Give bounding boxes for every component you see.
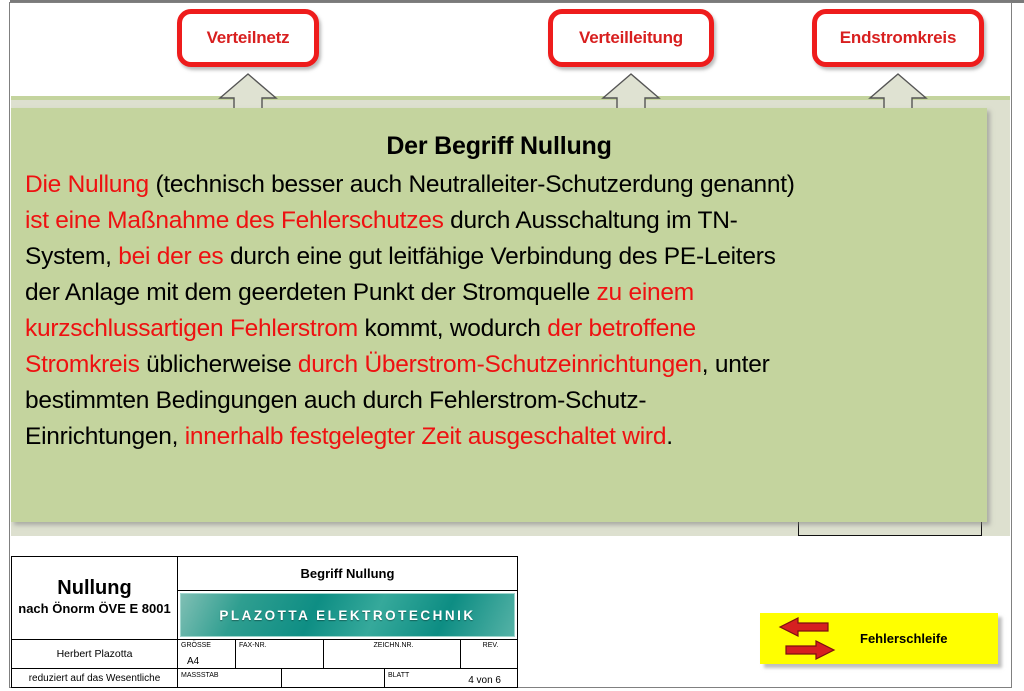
diagram-band-top-edge — [11, 96, 1010, 100]
definition-text: der Anlage mit dem geerdeten Punkt der S… — [25, 279, 597, 306]
subject-name: Nullung — [57, 576, 131, 600]
definition-text: , unter — [702, 351, 770, 378]
slide-canvas: Verteilnetz Verteilleitung Endstromkreis… — [0, 0, 1024, 691]
field-blatt: BLATT 4 von 6 — [385, 669, 517, 687]
definition-text: durch eine gut leitfähige Verbindung des… — [223, 243, 775, 270]
definition-text: System, — [25, 243, 118, 270]
definition-text: bestimmten Bedingungen auch durch Fehler… — [25, 387, 646, 414]
legend-label: Fehlerschleife — [860, 631, 947, 646]
field-groesse-value: A4 — [187, 656, 199, 667]
definition-highlight: durch Überstrom-Schutzeinrichtungen — [298, 351, 702, 378]
drawing-title: Begriff Nullung — [178, 557, 517, 591]
field-zeichnr-label: ZEICHN.NR. — [327, 642, 460, 649]
callout-endstromkreis-label: Endstromkreis — [840, 28, 956, 48]
definition-line: Die Nullung (technisch besser auch Neutr… — [25, 167, 973, 203]
definition-line: Stromkreis üblicherweise durch Überstrom… — [25, 347, 973, 383]
title-block-lower-row: reduziert auf das Wesentliche MASSSTAB B… — [12, 669, 517, 687]
definition-line: bestimmten Bedingungen auch durch Fehler… — [25, 383, 973, 419]
title-block-right-cell: Begriff Nullung PLAZOTTA ELEKTROTECHNIK — [178, 557, 517, 639]
definition-text: (technisch besser auch Neutralleiter-Sch… — [149, 171, 795, 198]
field-fax: FAX-NR. — [236, 640, 324, 668]
callout-verteilleitung-label: Verteilleitung — [579, 28, 683, 48]
title-block-subject-cell: Nullung nach Önorm ÖVE E 8001 — [12, 557, 178, 639]
definition-highlight: Stromkreis — [25, 351, 140, 378]
subject-standard: nach Önorm ÖVE E 8001 — [18, 600, 170, 618]
field-groesse-label: GRÖSSE — [181, 642, 211, 649]
definition-text: üblicherweise — [140, 351, 298, 378]
field-groesse: GRÖSSE A4 — [178, 640, 236, 668]
definition-highlight: der betroffene — [547, 315, 696, 342]
field-blatt-value: 4 von 6 — [468, 675, 501, 686]
field-rev: REV. — [461, 640, 517, 668]
definition-highlight: zu einem — [597, 279, 694, 306]
company-logo: PLAZOTTA ELEKTROTECHNIK — [180, 593, 515, 637]
definition-text: durch Ausschaltung im TN- — [444, 207, 738, 234]
definition-highlight: Die Nullung — [25, 171, 149, 198]
field-fax-label: FAX-NR. — [239, 642, 267, 649]
field-blank — [282, 669, 385, 687]
definition-body: Die Nullung (technisch besser auch Neutr… — [25, 167, 973, 455]
callout-endstromkreis[interactable]: Endstromkreis — [812, 9, 984, 67]
drawing-note: reduziert auf das Wesentliche — [12, 669, 178, 687]
definition-line: Einrichtungen, innerhalb festgelegter Ze… — [25, 419, 973, 455]
legend-fehlerschleife[interactable]: Fehlerschleife — [760, 613, 998, 664]
company-logo-text: PLAZOTTA ELEKTROTECHNIK — [219, 608, 475, 623]
field-zeichnr: ZEICHN.NR. — [324, 640, 461, 668]
definition-line: kurzschlussartigen Fehlerstrom kommt, wo… — [25, 311, 973, 347]
title-block-upper-row: Nullung nach Önorm ÖVE E 8001 Begriff Nu… — [12, 557, 517, 640]
definition-line: System, bei der es durch eine gut leitfä… — [25, 239, 973, 275]
definition-highlight: ist eine Maßnahme des Fehlerschutzes — [25, 207, 444, 234]
definition-text: . — [666, 423, 673, 450]
definition-text: Einrichtungen, — [25, 423, 185, 450]
definition-text: kommt, wodurch — [358, 315, 547, 342]
definition-title: Der Begriff Nullung — [25, 132, 973, 161]
field-blatt-label: BLATT — [388, 672, 409, 679]
field-massstab: MASSSTAB — [178, 669, 282, 687]
definition-highlight: innerhalb festgelegter Zeit ausgeschalte… — [185, 423, 667, 450]
callout-verteilnetz[interactable]: Verteilnetz — [177, 9, 319, 67]
callout-verteilnetz-label: Verteilnetz — [207, 28, 290, 48]
definition-line: der Anlage mit dem geerdeten Punkt der S… — [25, 275, 973, 311]
field-rev-label: REV. — [464, 642, 517, 649]
title-block-middle-row: Herbert Plazotta GRÖSSE A4 FAX-NR. ZEICH… — [12, 640, 517, 669]
callout-verteilleitung[interactable]: Verteilleitung — [548, 9, 714, 67]
drawing-title-block: Nullung nach Önorm ÖVE E 8001 Begriff Nu… — [11, 556, 518, 688]
field-massstab-label: MASSSTAB — [181, 672, 219, 679]
definition-highlight: bei der es — [118, 243, 223, 270]
author-name: Herbert Plazotta — [12, 640, 178, 668]
double-arrow-icon — [776, 617, 838, 661]
definition-line: ist eine Maßnahme des Fehlerschutzes dur… — [25, 203, 973, 239]
definition-panel: Der Begriff Nullung Die Nullung (technis… — [11, 108, 987, 522]
definition-highlight: kurzschlussartigen Fehlerstrom — [25, 315, 358, 342]
